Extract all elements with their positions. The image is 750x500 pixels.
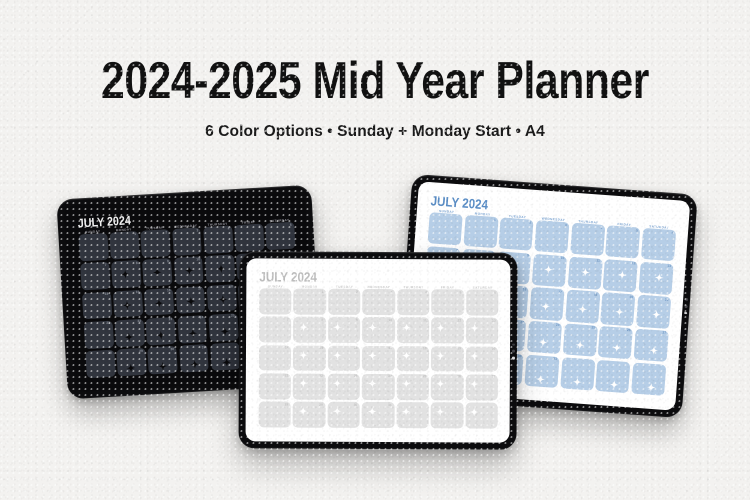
day-number: 11 — [423, 319, 427, 322]
calendar-day-cell[interactable]: 25 — [397, 374, 429, 400]
calendar-grid: 1234567891011121314151617181920212223242… — [259, 288, 499, 428]
day-number: 28 — [285, 403, 289, 406]
day-number: 13 — [667, 265, 671, 269]
day-number: 23 — [354, 375, 358, 378]
day-number: 15 — [136, 291, 140, 295]
day-number: 5 — [259, 225, 261, 228]
day-number: 1 — [322, 290, 324, 293]
calendar-day-cell[interactable]: 31 — [179, 344, 209, 373]
day-number: 9 — [356, 319, 358, 322]
calendar-day-cell[interactable]: 11 — [567, 256, 602, 290]
day-number: 7 — [105, 264, 107, 267]
day-number: 27 — [492, 376, 496, 379]
flash-sensor-icon — [512, 357, 515, 360]
day-number: 8 — [136, 262, 138, 265]
day-number: 27 — [662, 332, 666, 336]
day-number: 20 — [665, 298, 669, 302]
calendar-day-cell[interactable]: 3 — [534, 220, 569, 254]
calendar-day-cell[interactable]: 24 — [177, 315, 207, 344]
day-number: 1 — [134, 233, 136, 236]
sensor-dot-icon — [512, 343, 515, 346]
day-number: 9 — [527, 255, 529, 258]
day-number: 6 — [290, 223, 292, 226]
day-number: 17 — [558, 291, 562, 295]
calendar-day-cell[interactable]: 17 — [175, 286, 205, 315]
calendar-day-cell[interactable]: 11 — [397, 317, 429, 343]
calendar-day-cell[interactable]: 18 — [397, 346, 429, 372]
calendar-day-cell[interactable]: 21 — [84, 320, 114, 349]
calendar-day-cell[interactable]: 2 — [141, 229, 171, 258]
day-number: 29 — [319, 403, 323, 406]
day-number: 24 — [556, 324, 560, 328]
day-number: 24 — [388, 375, 392, 378]
camera-sensor-group — [684, 298, 688, 314]
calendar-day-cell[interactable]: 25 — [208, 313, 238, 342]
day-number: 13 — [492, 319, 496, 322]
page-subtitle: 6 Color Options • Sunday + Monday Start … — [0, 123, 750, 141]
day-number: 18 — [423, 347, 427, 350]
calendar-day-cell[interactable]: 6 — [466, 289, 498, 315]
day-number: 18 — [229, 285, 233, 289]
day-number: 26 — [457, 376, 461, 379]
calendar-day-cell[interactable]: 27 — [466, 374, 498, 400]
day-number: 23 — [169, 318, 173, 322]
day-number: 22 — [319, 375, 323, 378]
day-number: 5 — [459, 291, 461, 294]
day-number: 19 — [457, 347, 461, 350]
day-number: 6 — [494, 291, 496, 294]
calendar-day-cell[interactable]: 27 — [633, 329, 668, 363]
day-number: 21 — [285, 375, 289, 378]
calendar-day-cell[interactable]: 9 — [328, 317, 360, 343]
calendar-day-cell[interactable]: 4 — [570, 223, 605, 257]
calendar-day-cell[interactable]: 19 — [431, 346, 463, 372]
day-number: 30 — [170, 348, 174, 352]
day-number: 31 — [553, 358, 557, 362]
day-number: 17 — [388, 347, 392, 350]
day-number: 22 — [137, 320, 141, 324]
calendar-day-cell[interactable]: 5 — [432, 289, 464, 315]
calendar-day-cell[interactable] — [78, 233, 108, 262]
day-number: 16 — [523, 288, 527, 292]
camera-sensor-group — [512, 343, 515, 359]
camera-lens-icon — [512, 350, 515, 353]
calendar-day-cell[interactable]: 29 — [293, 402, 325, 428]
calendar-day-cell[interactable] — [428, 212, 463, 246]
light-theme-tablet[interactable]: JULY 2024 SUNDAYMONDAYTUESDAYWEDNESDAYTH… — [238, 251, 517, 449]
calendar-day-cell[interactable]: 23 — [328, 374, 360, 400]
flash-sensor-icon — [684, 312, 687, 315]
day-number: 11 — [596, 260, 600, 264]
day-number: 15 — [319, 347, 323, 350]
page-title: 2024-2025 Mid Year Planner — [68, 54, 683, 109]
calendar-day-cell[interactable]: 11 — [205, 255, 235, 284]
calendar-day-cell[interactable]: 17 — [362, 345, 394, 371]
calendar-day-cell[interactable]: 17 — [529, 287, 564, 321]
day-number: 2 — [356, 290, 358, 293]
day-number: 9 — [167, 260, 169, 263]
calendar-day-cell[interactable]: 28 — [85, 350, 115, 379]
calendar-day-cell[interactable]: 15 — [113, 289, 143, 318]
day-number: 26 — [627, 329, 631, 333]
calendar-page: JULY 2024 SUNDAYMONDAYTUESDAYWEDNESDAYTH… — [246, 258, 511, 442]
calendar-day-cell[interactable]: 19 — [600, 292, 635, 326]
day-number: 10 — [389, 319, 393, 322]
day-number: 7 — [287, 318, 289, 321]
calendar-day-cell[interactable]: 8 — [294, 317, 326, 343]
day-number: 8 — [321, 318, 323, 321]
calendar-day-cell[interactable]: 1 — [294, 289, 326, 315]
calendar-day-cell[interactable]: 18 — [206, 284, 236, 313]
calendar-day-cell[interactable]: 6 — [641, 228, 676, 262]
calendar-day-cell[interactable]: 25 — [562, 323, 597, 357]
day-number: 2 — [165, 231, 167, 234]
calendar-day-cell[interactable]: 26 — [598, 326, 633, 360]
day-number: 10 — [196, 258, 200, 262]
day-number: 5 — [636, 229, 638, 232]
calendar-day-cell[interactable]: 9 — [142, 258, 172, 287]
calendar-day-cell[interactable]: 3 — [172, 227, 202, 256]
day-number: 30 — [354, 403, 358, 406]
calendar-day-cell[interactable]: 12 — [431, 318, 463, 344]
calendar-day-cell[interactable]: 31 — [362, 402, 394, 428]
day-number: 25 — [231, 315, 235, 319]
day-number: 4 — [425, 291, 427, 294]
day-number: 10 — [561, 257, 565, 261]
calendar-day-cell[interactable]: 22 — [293, 373, 325, 399]
day-number: 21 — [106, 322, 110, 326]
calendar-day-cell[interactable]: 22 — [115, 319, 145, 348]
calendar-day-cell[interactable]: 13 — [466, 318, 498, 344]
day-number: 6 — [671, 231, 673, 234]
calendar-day-cell[interactable]: 1 — [463, 215, 498, 249]
calendar-day-cell[interactable]: 14 — [82, 291, 112, 320]
calendar-day-cell[interactable]: 29 — [116, 348, 146, 377]
calendar-day-cell[interactable]: 24 — [527, 321, 562, 355]
sensor-dot-icon — [685, 298, 688, 301]
day-number: 17 — [198, 287, 202, 291]
day-number: 4 — [600, 226, 602, 229]
calendar-day-cell[interactable] — [431, 402, 463, 428]
calendar-day-cell[interactable]: 5 — [234, 224, 264, 253]
day-number: 18 — [594, 293, 598, 297]
calendar-day-cell[interactable]: 20 — [466, 346, 498, 372]
calendar-day-cell[interactable]: 12 — [603, 259, 638, 293]
calendar-day-cell[interactable]: 10 — [532, 254, 567, 288]
calendar-day-cell[interactable]: 16 — [144, 288, 174, 317]
day-number: 3 — [196, 229, 198, 232]
calendar-day-cell[interactable]: 4 — [397, 289, 429, 315]
calendar-day-cell[interactable]: 30 — [328, 402, 360, 428]
calendar-day-cell[interactable]: 3 — [363, 289, 395, 315]
day-number: 11 — [228, 256, 232, 259]
day-number: 28 — [108, 351, 112, 355]
day-number: 24 — [200, 317, 204, 321]
calendar-day-cell[interactable]: 8 — [111, 260, 141, 289]
calendar-day-cell[interactable]: 7 — [259, 317, 291, 343]
calendar-month-title: JULY 2024 — [259, 269, 465, 285]
day-number: 25 — [423, 376, 427, 379]
camera-lens-icon — [684, 304, 687, 307]
day-number: 1 — [494, 218, 496, 221]
day-number: 12 — [632, 262, 636, 266]
day-number: 29 — [139, 349, 143, 353]
day-number: 14 — [105, 293, 109, 297]
calendar-day-cell[interactable]: 2 — [499, 217, 534, 251]
calendar-day-cell[interactable] — [397, 402, 429, 428]
calendar-day-cell[interactable]: 10 — [362, 317, 394, 343]
calendar-day-cell[interactable]: 28 — [259, 401, 291, 427]
calendar-day-cell[interactable]: 4 — [203, 225, 233, 254]
day-number: 31 — [388, 404, 392, 407]
day-number: 20 — [492, 348, 496, 351]
calendar-day-cell[interactable]: 23 — [146, 317, 176, 346]
calendar-day-cell[interactable]: 7 — [80, 262, 110, 291]
calendar-day-cell[interactable]: 21 — [259, 373, 291, 399]
calendar-day-cell[interactable]: 20 — [636, 295, 671, 329]
calendar-day-cell[interactable] — [560, 357, 595, 391]
promo-header: 2024-2025 Mid Year Planner 6 Color Optio… — [0, 0, 750, 141]
calendar-day-cell[interactable] — [465, 403, 497, 429]
calendar-day-cell[interactable]: 2 — [328, 289, 360, 315]
calendar-day-cell[interactable]: 26 — [431, 374, 463, 400]
calendar-day-cell[interactable]: 24 — [362, 374, 394, 400]
calendar-day-cell[interactable]: 30 — [148, 346, 178, 375]
calendar-day-cell[interactable] — [595, 360, 630, 394]
day-number: 2 — [529, 221, 531, 224]
calendar-day-cell[interactable]: 15 — [293, 345, 325, 371]
calendar-day-cell[interactable]: 5 — [605, 225, 640, 259]
day-number: 12 — [457, 319, 461, 322]
day-number: 3 — [565, 224, 567, 227]
calendar-day-cell[interactable]: 1 — [110, 231, 140, 260]
calendar-day-cell[interactable] — [631, 362, 666, 396]
day-number: 3 — [390, 291, 392, 294]
day-number: 30 — [518, 355, 522, 359]
calendar-day-cell[interactable] — [210, 342, 240, 371]
day-number: 16 — [167, 289, 171, 293]
day-number: 14 — [285, 347, 289, 350]
day-number: 31 — [201, 346, 205, 350]
tablet-screen: JULY 2024 SUNDAYMONDAYTUESDAYWEDNESDAYTH… — [246, 258, 511, 442]
calendar-day-cell[interactable]: 10 — [174, 256, 204, 285]
calendar-day-cell[interactable] — [259, 288, 291, 314]
day-number: 19 — [629, 296, 633, 300]
calendar-day-cell[interactable]: 6 — [265, 222, 295, 251]
day-number: 4 — [227, 227, 229, 230]
calendar-day-cell[interactable]: 14 — [259, 345, 291, 371]
calendar-day-cell[interactable]: 16 — [328, 345, 360, 371]
day-number: 23 — [520, 322, 524, 326]
day-number: 16 — [354, 347, 358, 350]
day-number: 25 — [591, 327, 595, 331]
calendar-day-cell[interactable]: 18 — [565, 290, 600, 324]
calendar-day-cell[interactable]: 13 — [638, 261, 673, 295]
calendar-day-cell[interactable]: 31 — [524, 354, 559, 388]
